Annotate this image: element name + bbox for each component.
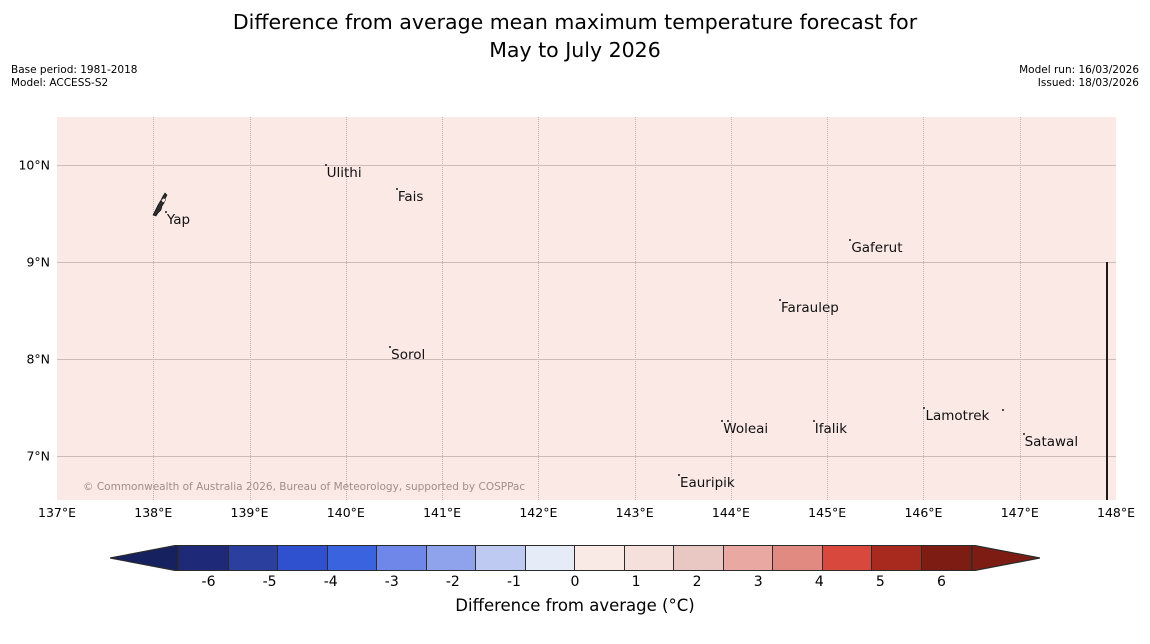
x-axis-tick-label: 138°E	[134, 505, 172, 520]
x-axis-tick-label: 146°E	[904, 505, 942, 520]
x-axis-tick-label: 144°E	[712, 505, 750, 520]
colorbar-tick: -6	[202, 574, 216, 590]
y-axis-tick-label: 7°N	[0, 449, 50, 464]
colorbar-tick: 6	[937, 574, 946, 590]
place-label: Gaferut	[851, 242, 902, 256]
colorbar-segment	[773, 546, 823, 570]
base-period-text: Base period: 1981-2018	[11, 64, 137, 77]
gridline-vertical	[250, 117, 252, 500]
colorbar-segment	[575, 546, 625, 570]
colorbar-segment	[427, 546, 477, 570]
gridline-horizontal	[57, 359, 1116, 360]
place-label: Satawal	[1025, 436, 1078, 450]
colorbar-tick: -1	[507, 574, 521, 590]
colorbar-segment	[674, 546, 724, 570]
colorbar-segment	[476, 546, 526, 570]
x-axis-tick-label: 142°E	[519, 505, 557, 520]
map-canvas: YapUlithiFaisSorolGaferutFaraulepWoleaiI…	[57, 117, 1116, 500]
colorbar-segment	[179, 546, 229, 570]
yap-island-shape	[150, 191, 172, 217]
colorbar-segment	[526, 546, 576, 570]
colorbar-tick: 4	[815, 574, 824, 590]
x-axis-tick-label: 143°E	[616, 505, 654, 520]
place-label: Lamotrek	[925, 410, 989, 424]
gridline-vertical	[442, 117, 444, 500]
colorbar-panel: -6-5-4-3-2-10123456 Difference from aver…	[0, 536, 1150, 644]
x-axis-tick-label: 137°E	[38, 505, 76, 520]
copyright-text: © Commonwealth of Australia 2026, Bureau…	[83, 481, 525, 493]
title-line-1: Difference from average mean maximum tem…	[233, 10, 917, 34]
title-line-2: May to July 2026	[0, 36, 1150, 64]
place-label: Fais	[398, 191, 424, 205]
issued-text: Issued: 18/03/2026	[1019, 77, 1139, 90]
colorbar-tick: 0	[571, 574, 580, 590]
gridline-horizontal	[57, 456, 1116, 457]
x-axis-tick-label: 147°E	[1001, 505, 1039, 520]
colorbar-tick: 5	[876, 574, 885, 590]
page-title: Difference from average mean maximum tem…	[0, 8, 1150, 64]
gridline-vertical	[538, 117, 540, 500]
place-label: Ifalik	[815, 423, 847, 437]
y-axis-tick-label: 9°N	[0, 255, 50, 270]
colorbar-segment	[872, 546, 922, 570]
colorbar-tick: 3	[754, 574, 763, 590]
gridline-vertical	[635, 117, 637, 500]
colorbar-segment	[724, 546, 774, 570]
metadata-left: Base period: 1981-2018 Model: ACCESS-S2	[11, 64, 137, 90]
colorbar-segment	[229, 546, 279, 570]
colorbar-segment	[922, 546, 972, 570]
x-axis-tick-label: 139°E	[231, 505, 269, 520]
colorbar-tick: 1	[632, 574, 641, 590]
colorbar-extend-high	[972, 545, 1040, 571]
gridline-vertical	[731, 117, 733, 500]
place-label: Eauripik	[680, 477, 735, 491]
colorbar-extend-low	[110, 545, 178, 571]
colorbar-title: Difference from average (°C)	[0, 596, 1150, 615]
gridline-vertical	[923, 117, 925, 500]
gridline-vertical	[153, 117, 155, 500]
place-label: Faraulep	[781, 302, 839, 316]
place-label: Woleai	[723, 423, 768, 437]
colorbar-segment	[823, 546, 873, 570]
colorbar-tick: -5	[263, 574, 277, 590]
colorbar-segment	[278, 546, 328, 570]
place-marker	[1002, 409, 1004, 411]
map-panel[interactable]: YapUlithiFaisSorolGaferutFaraulepWoleaiI…	[57, 117, 1116, 500]
place-label: Ulithi	[327, 167, 362, 181]
y-axis-tick-label: 10°N	[0, 158, 50, 173]
colorbar-tick: -4	[324, 574, 338, 590]
gridline-vertical	[1020, 117, 1022, 500]
x-axis-tick-label: 148°E	[1097, 505, 1135, 520]
colorbar-tick: -3	[385, 574, 399, 590]
gridline-horizontal	[57, 262, 1116, 263]
model-run-text: Model run: 16/03/2026	[1019, 64, 1139, 77]
colorbar-tick: 2	[693, 574, 702, 590]
x-axis-tick-label: 145°E	[808, 505, 846, 520]
boundary-line	[1106, 262, 1108, 500]
x-axis-tick-label: 141°E	[423, 505, 461, 520]
colorbar-tick: -2	[446, 574, 460, 590]
colorbar-segment	[377, 546, 427, 570]
gridline-horizontal	[57, 165, 1116, 166]
colorbar-segment	[328, 546, 378, 570]
y-axis-tick-label: 8°N	[0, 352, 50, 367]
colorbar-gradient	[178, 545, 972, 571]
model-text: Model: ACCESS-S2	[11, 77, 137, 90]
colorbar-segment	[625, 546, 675, 570]
place-label: Sorol	[391, 349, 425, 363]
metadata-right: Model run: 16/03/2026 Issued: 18/03/2026	[1019, 64, 1139, 90]
x-axis-tick-label: 140°E	[327, 505, 365, 520]
